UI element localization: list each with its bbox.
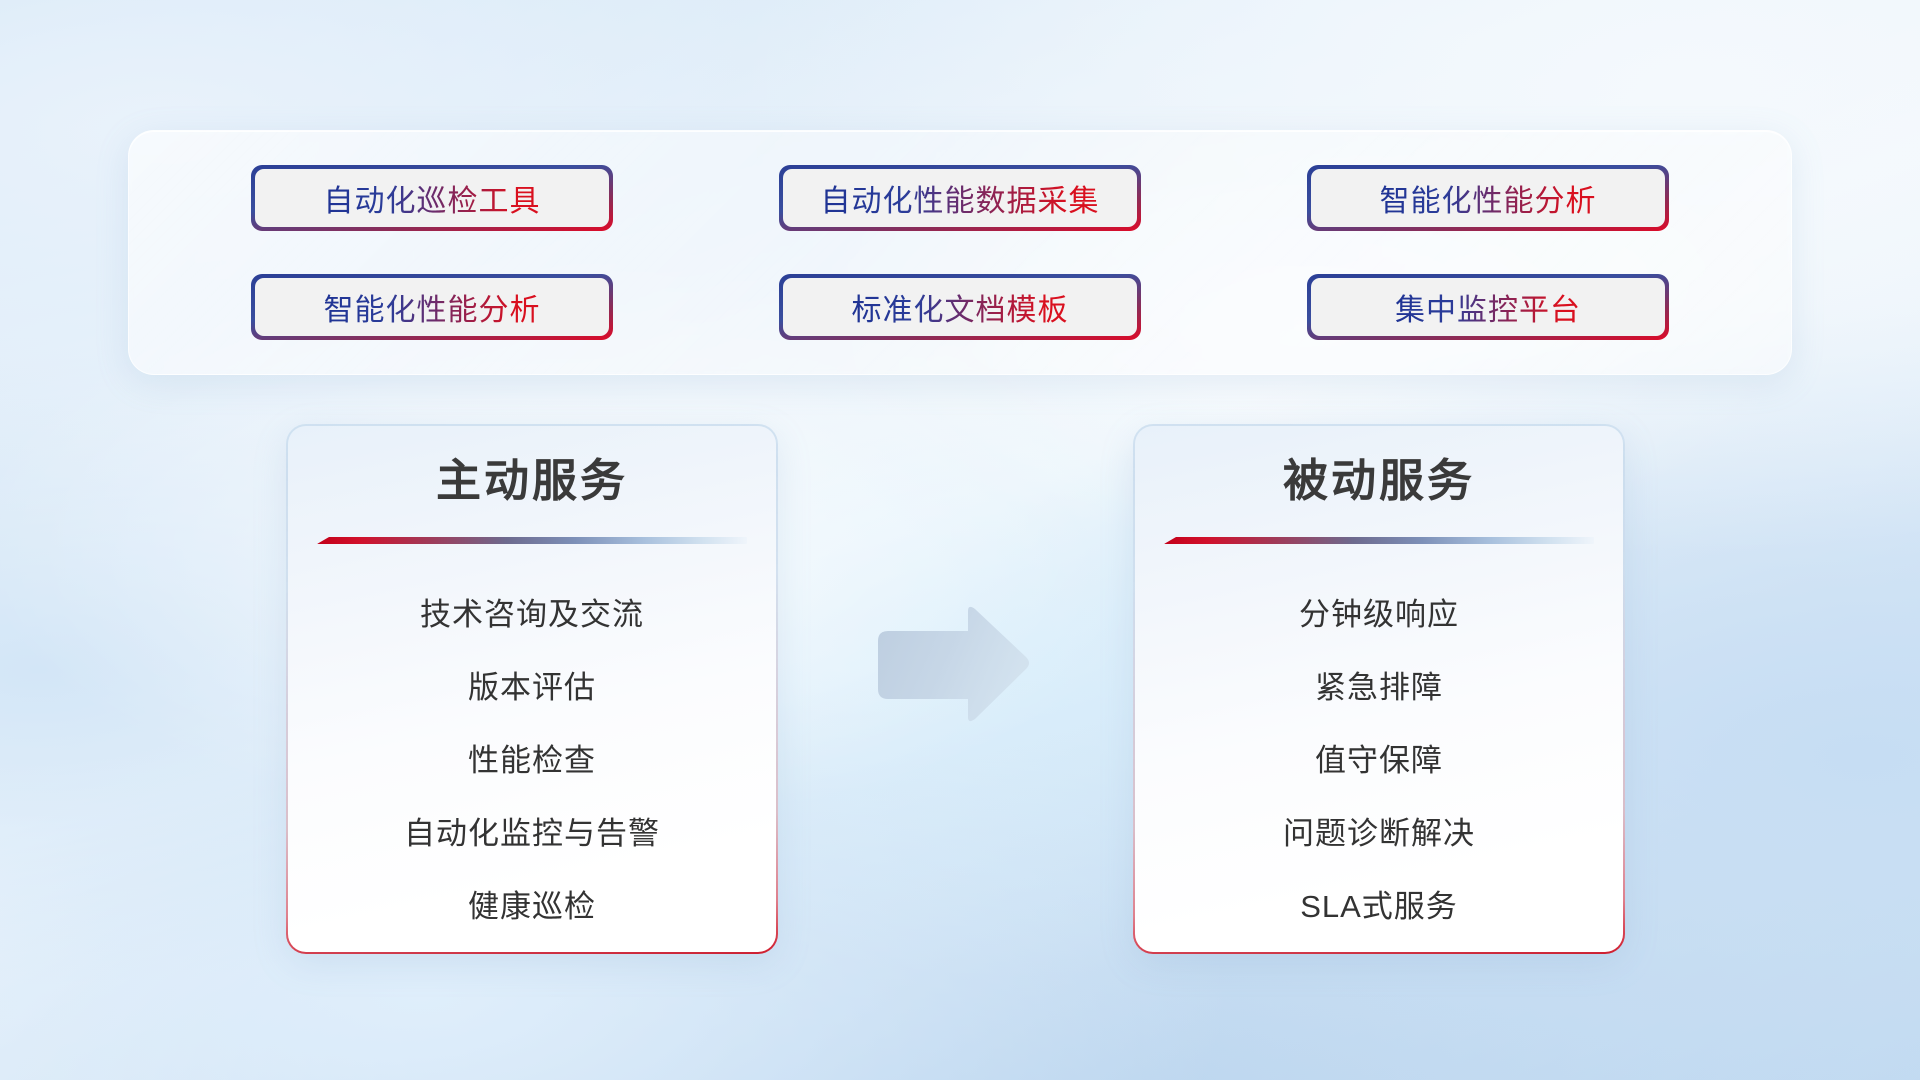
service-card-proactive[interactable]: 主动服务 技术咨询及交流 版本评估 性能检查 自动化监控与告警 健康巡检 bbox=[286, 424, 778, 954]
capability-pill-label: 自动化巡检工具 bbox=[324, 176, 541, 220]
list-item: 技术咨询及交流 bbox=[420, 578, 644, 651]
service-card-list: 技术咨询及交流 版本评估 性能检查 自动化监控与告警 健康巡检 bbox=[288, 578, 776, 943]
capability-pill-label: 智能化性能分析 bbox=[324, 285, 541, 329]
capability-pill-label: 标准化文档模板 bbox=[852, 285, 1069, 329]
service-card-list: 分钟级响应 紧急排障 值守保障 问题诊断解决 SLA式服务 bbox=[1135, 578, 1623, 943]
list-item: 问题诊断解决 bbox=[1283, 797, 1475, 870]
capability-pill-surface: 自动化巡检工具 bbox=[255, 169, 609, 227]
list-item: SLA式服务 bbox=[1300, 870, 1458, 943]
capability-pill-label: 自动化性能数据采集 bbox=[821, 176, 1100, 220]
service-card-reactive[interactable]: 被动服务 分钟级响应 紧急排障 值守保障 问题诊断解决 SLA式服务 bbox=[1133, 424, 1625, 954]
capability-pill[interactable]: 标准化文档模板 bbox=[781, 276, 1139, 338]
capability-pill[interactable]: 智能化性能分析 bbox=[253, 276, 611, 338]
capability-pill-surface: 智能化性能分析 bbox=[255, 278, 609, 336]
list-item: 紧急排障 bbox=[1315, 651, 1443, 724]
capability-pill-surface: 自动化性能数据采集 bbox=[783, 169, 1137, 227]
list-item: 自动化监控与告警 bbox=[404, 797, 660, 870]
capability-pill-surface: 智能化性能分析 bbox=[1311, 169, 1665, 227]
arrow-right-icon bbox=[872, 605, 1032, 725]
title-underline-rule bbox=[1164, 537, 1594, 544]
title-underline-rule bbox=[317, 537, 747, 544]
list-item: 性能检查 bbox=[468, 724, 596, 797]
capability-pill[interactable]: 集中监控平台 bbox=[1309, 276, 1667, 338]
capability-pill-grid: 自动化巡检工具 自动化性能数据采集 智能化性能分析 智能化性能分析 标准化文档模… bbox=[128, 130, 1792, 375]
capability-pill[interactable]: 智能化性能分析 bbox=[1309, 167, 1667, 229]
capability-pill-surface: 标准化文档模板 bbox=[783, 278, 1137, 336]
list-item: 值守保障 bbox=[1315, 724, 1443, 797]
capability-pill-surface: 集中监控平台 bbox=[1311, 278, 1665, 336]
service-card-title: 主动服务 bbox=[436, 458, 628, 503]
list-item: 分钟级响应 bbox=[1299, 578, 1459, 651]
flow-arrow bbox=[872, 605, 1032, 725]
service-card-surface: 主动服务 技术咨询及交流 版本评估 性能检查 自动化监控与告警 健康巡检 bbox=[288, 426, 776, 952]
list-item: 版本评估 bbox=[468, 651, 596, 724]
service-card-title: 被动服务 bbox=[1283, 458, 1475, 503]
list-item: 健康巡检 bbox=[468, 870, 596, 943]
capability-pill-label: 集中监控平台 bbox=[1395, 285, 1581, 329]
service-card-surface: 被动服务 分钟级响应 紧急排障 值守保障 问题诊断解决 SLA式服务 bbox=[1135, 426, 1623, 952]
capability-pill[interactable]: 自动化巡检工具 bbox=[253, 167, 611, 229]
capability-pill[interactable]: 自动化性能数据采集 bbox=[781, 167, 1139, 229]
capability-pill-label: 智能化性能分析 bbox=[1380, 176, 1597, 220]
